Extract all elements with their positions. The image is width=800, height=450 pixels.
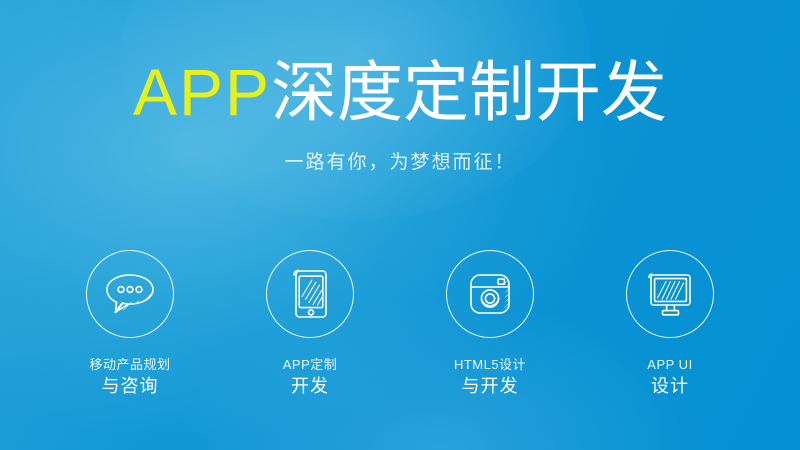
desktop-monitor-icon <box>641 268 699 320</box>
promo-banner: APP深度定制开发 一路有你，为梦想而征！ <box>0 0 800 450</box>
feature-caption-line1: APP定制 <box>283 356 338 373</box>
feature-item-html5[interactable]: HTML5设计 与开发 <box>400 250 580 399</box>
feature-caption: APP定制 开发 <box>283 356 338 399</box>
feature-caption: APP UI 设计 <box>647 356 692 399</box>
feature-icon-circle <box>266 250 354 338</box>
feature-caption-line2: 与咨询 <box>89 375 170 399</box>
camera-icon <box>463 267 517 321</box>
feature-icon-circle <box>446 250 534 338</box>
feature-list: 移动产品规划 与咨询 <box>0 250 800 399</box>
smartphone-icon <box>285 266 335 322</box>
feature-caption: HTML5设计 与开发 <box>454 356 526 399</box>
feature-item-consulting[interactable]: 移动产品规划 与咨询 <box>40 250 220 399</box>
speech-bubble-icon <box>102 269 158 319</box>
feature-icon-circle <box>626 250 714 338</box>
feature-item-ui-design[interactable]: APP UI 设计 <box>580 250 760 399</box>
title-brand-text: APP <box>133 55 271 129</box>
feature-caption-line2: 设计 <box>647 375 692 399</box>
feature-caption: 移动产品规划 与咨询 <box>89 356 170 399</box>
page-subtitle: 一路有你，为梦想而征！ <box>0 150 800 176</box>
feature-caption-line2: 开发 <box>283 375 338 399</box>
title-main-text: 深度定制开发 <box>271 55 667 129</box>
feature-icon-circle <box>86 250 174 338</box>
page-title: APP深度定制开发 <box>0 55 800 129</box>
feature-caption-line2: 与开发 <box>454 375 526 399</box>
feature-caption-line1: 移动产品规划 <box>89 356 170 373</box>
feature-caption-line1: HTML5设计 <box>454 356 526 373</box>
feature-item-app-development[interactable]: APP定制 开发 <box>220 250 400 399</box>
feature-caption-line1: APP UI <box>647 356 692 373</box>
